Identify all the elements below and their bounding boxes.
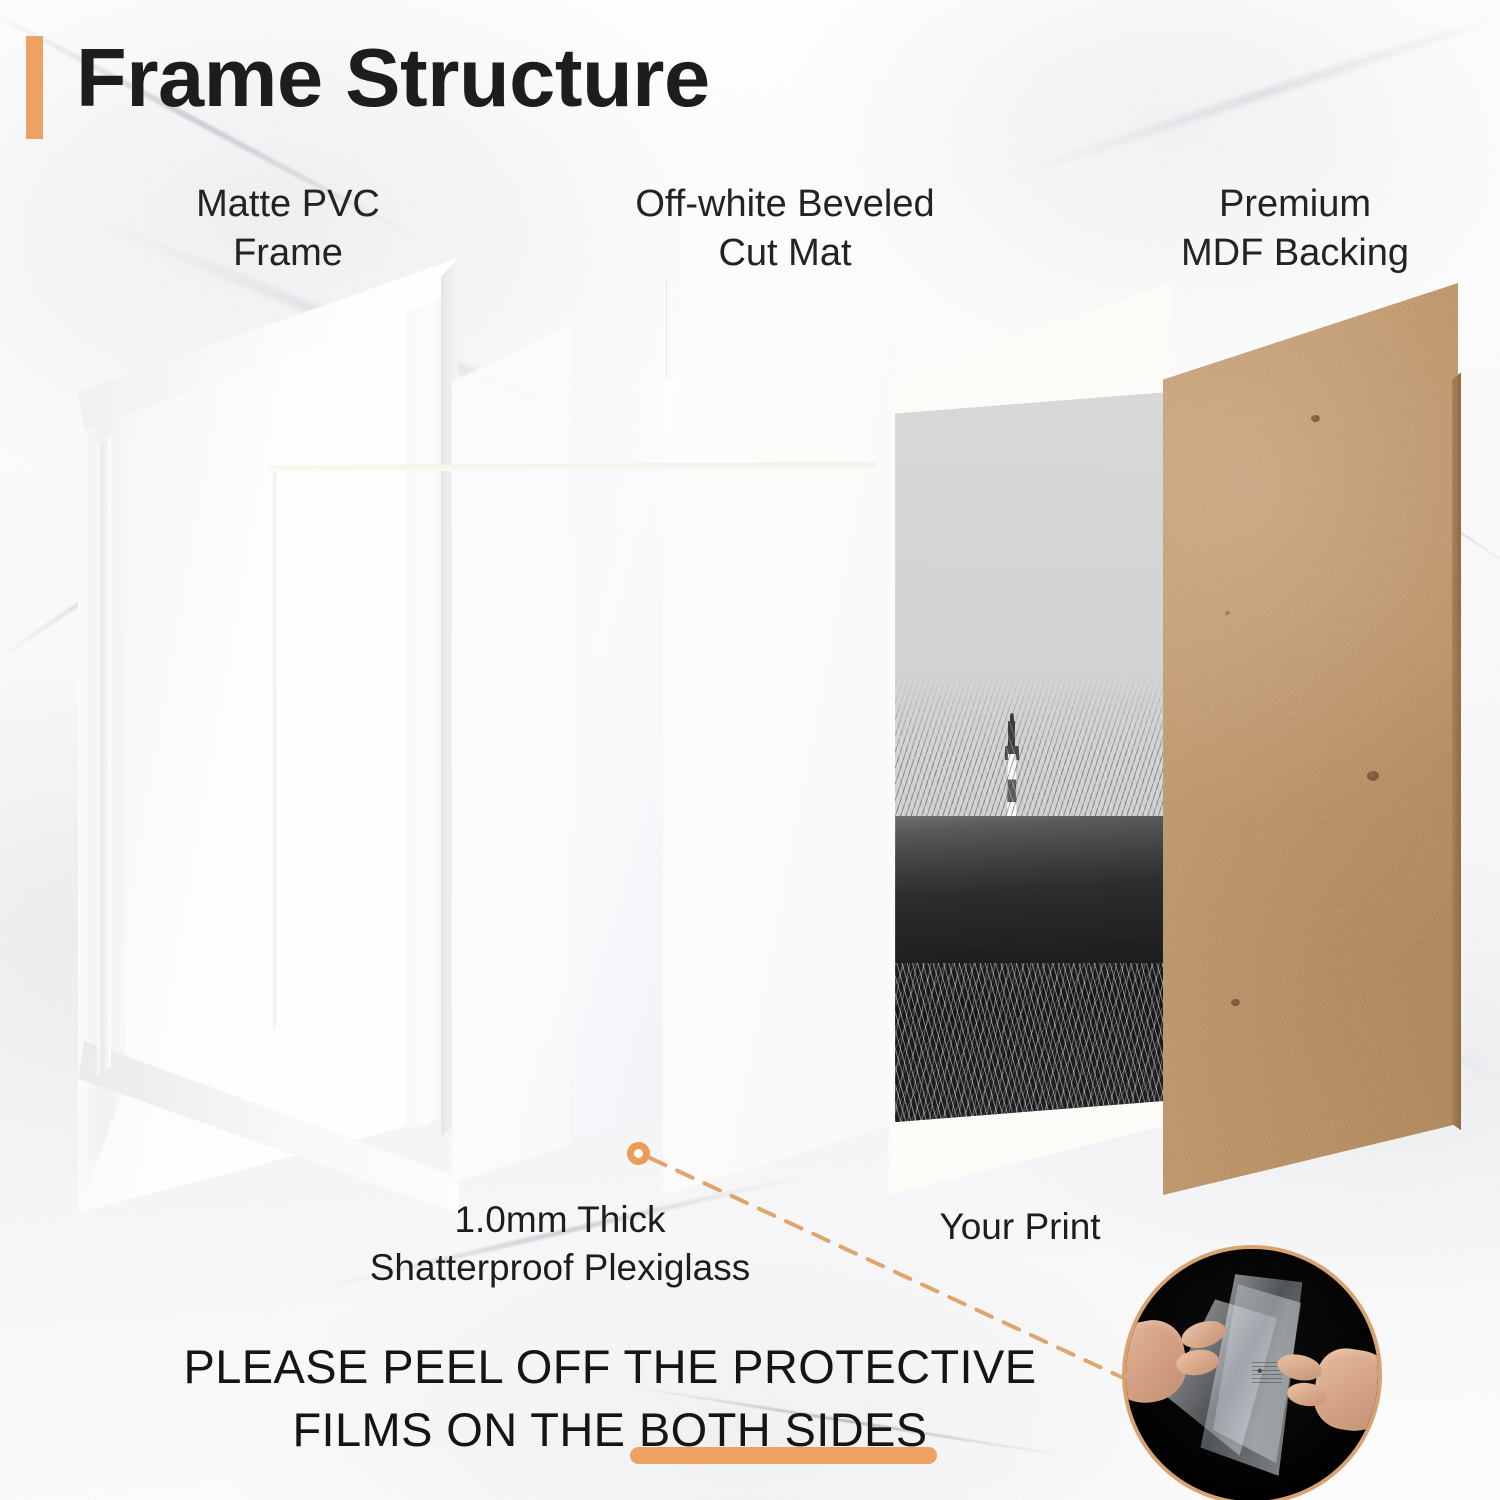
mdf-speck <box>1311 415 1320 422</box>
label-cut-mat: Off-white Beveled Cut Mat <box>565 180 1005 277</box>
infographic-canvas: Frame Structure <box>0 0 1500 1500</box>
leader-marker-ring <box>627 1142 650 1165</box>
photo-dune-grass <box>895 963 1164 1122</box>
label-line-2: Shatterproof Plexiglass <box>250 1244 870 1292</box>
mdf-speck <box>1231 999 1240 1006</box>
layer-mdf-backing <box>1163 283 1458 1195</box>
label-line-2: MDF Backing <box>1105 229 1485 278</box>
label-line-2: Frame <box>118 229 458 278</box>
photo-dunes <box>895 816 1164 1122</box>
label-line-1: Off-white Beveled <box>565 180 1005 229</box>
photo-grass-fringe <box>895 670 1164 831</box>
layer-print <box>889 283 1171 1195</box>
label-your-print: Your Print <box>880 1203 1160 1251</box>
label-mdf-backing: Premium MDF Backing <box>1105 180 1485 277</box>
label-matte-pvc-frame: Matte PVC Frame <box>118 180 458 277</box>
label-line-1: Premium <box>1105 180 1485 229</box>
print-photograph <box>895 392 1164 1122</box>
warning-line-1: PLEASE PEEL OFF THE PROTECTIVE <box>184 1340 1037 1393</box>
label-line-1: 1.0mm Thick <box>250 1196 870 1244</box>
layer-cut-mat <box>663 283 895 1195</box>
label-line-2: Cut Mat <box>565 229 1005 278</box>
mat-bevel-left <box>273 465 276 1030</box>
warning-line-2-prefix: FILMS ON THE <box>292 1403 638 1456</box>
mdf-speck <box>1367 771 1379 781</box>
peel-film-inset-photo <box>1122 1245 1382 1500</box>
peel-warning-text: PLEASE PEEL OFF THE PROTECTIVE FILMS ON … <box>150 1336 1070 1462</box>
mdf-side-edge <box>1452 283 1461 1195</box>
label-plexiglass: 1.0mm Thick Shatterproof Plexiglass <box>250 1196 870 1292</box>
label-line-1: Matte PVC <box>118 180 458 229</box>
frame-rabbet <box>97 437 111 1077</box>
warning-highlight: BOTH SIDES <box>639 1399 928 1462</box>
mat-window <box>269 465 877 1030</box>
